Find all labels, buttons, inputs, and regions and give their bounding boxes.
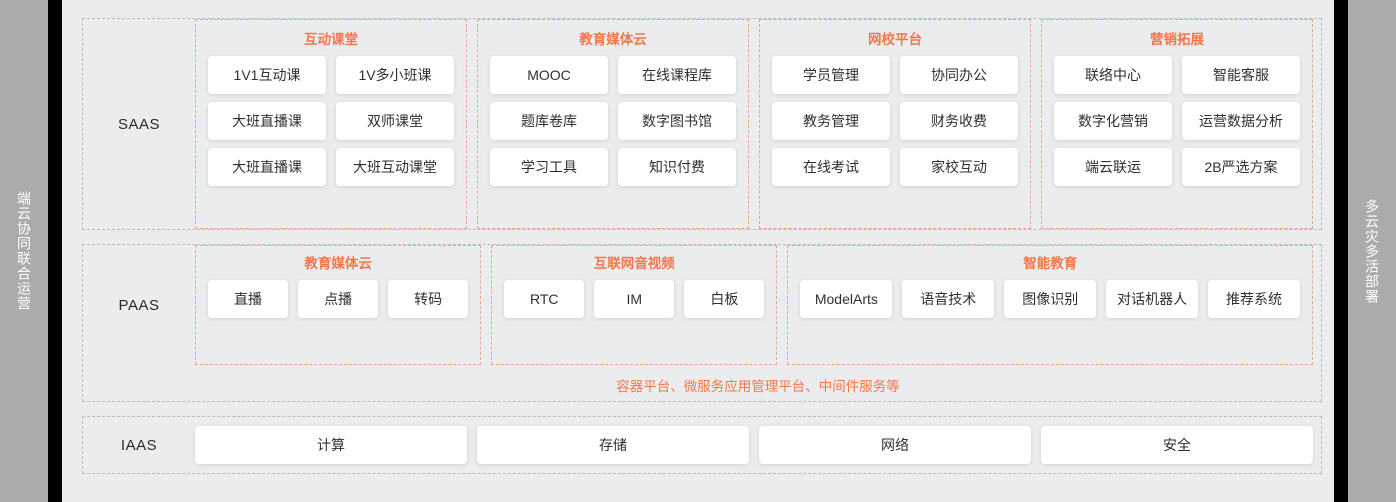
service-card[interactable]: 学习工具 (490, 148, 608, 186)
paas-row: PAAS 教育媒体云 直播 点播 转码 互联网音视频 RTC (83, 245, 1321, 365)
service-card[interactable]: MOOC (490, 56, 608, 94)
service-card[interactable]: 在线课程库 (618, 56, 736, 94)
service-card[interactable]: 学员管理 (772, 56, 890, 94)
service-card[interactable]: 在线考试 (772, 148, 890, 186)
group-title: 智能教育 (1023, 252, 1077, 272)
left-rail: 端云协同联合运营 (0, 0, 48, 502)
group-title: 教育媒体云 (304, 252, 372, 272)
service-card[interactable]: 大班直播课 (208, 148, 326, 186)
group-paas-0: 教育媒体云 直播 点播 转码 (195, 245, 481, 365)
group-title: 教育媒体云 (579, 28, 647, 48)
service-card[interactable]: 网络 (759, 426, 1031, 464)
group-saas-2: 网校平台 学员管理 协同办公 教务管理 财务收费 在线考试 家校互动 (759, 19, 1031, 229)
service-card[interactable]: 1V1互动课 (208, 56, 326, 94)
service-card[interactable]: 语音技术 (902, 280, 994, 318)
service-card[interactable]: 财务收费 (900, 102, 1018, 140)
service-card[interactable]: 协同办公 (900, 56, 1018, 94)
group-title: 网校平台 (868, 28, 922, 48)
right-rail-label: 多云灾多活部署 (1360, 199, 1384, 304)
group-cards: MOOC 在线课程库 题库卷库 数字图书馆 学习工具 知识付费 (490, 56, 736, 186)
service-card[interactable]: 知识付费 (618, 148, 736, 186)
service-card[interactable]: IM (594, 280, 674, 318)
service-card[interactable]: 直播 (208, 280, 288, 318)
service-card[interactable]: 图像识别 (1004, 280, 1096, 318)
paas-footnote: 容器平台、微服务应用管理平台、中间件服务等 (83, 365, 1321, 401)
service-card[interactable]: 大班互动课堂 (336, 148, 454, 186)
service-card[interactable]: 联络中心 (1054, 56, 1172, 94)
group-cards: 直播 点播 转码 (208, 280, 468, 318)
layer-label-saas: SAAS (83, 116, 195, 133)
layer-saas: SAAS 互动课堂 1V1互动课 1V多小班课 大班直播课 双师课堂 大班直播课… (82, 18, 1322, 230)
group-cards: 联络中心 智能客服 数字化营销 运营数据分析 端云联运 2B严选方案 (1054, 56, 1300, 186)
service-card[interactable]: 数字化营销 (1054, 102, 1172, 140)
iaas-cards: 计算 存储 网络 安全 (195, 426, 1321, 464)
service-card[interactable]: 1V多小班课 (336, 56, 454, 94)
service-card[interactable]: 存储 (477, 426, 749, 464)
group-cards: RTC IM 白板 (504, 280, 764, 318)
service-card[interactable]: 端云联运 (1054, 148, 1172, 186)
layer-label-paas: PAAS (83, 297, 195, 314)
group-title: 互联网音视频 (594, 252, 675, 272)
left-rail-label: 端云协同联合运营 (12, 191, 36, 311)
left-rail-divider (48, 0, 62, 502)
service-card[interactable]: 教务管理 (772, 102, 890, 140)
service-card[interactable]: 数字图书馆 (618, 102, 736, 140)
right-rail-divider (1334, 0, 1348, 502)
service-card[interactable]: 转码 (388, 280, 468, 318)
service-card[interactable]: 双师课堂 (336, 102, 454, 140)
service-card[interactable]: 安全 (1041, 426, 1313, 464)
service-card[interactable]: 家校互动 (900, 148, 1018, 186)
paas-groups: 教育媒体云 直播 点播 转码 互联网音视频 RTC IM 白板 (195, 245, 1321, 365)
saas-groups: 互动课堂 1V1互动课 1V多小班课 大班直播课 双师课堂 大班直播课 大班互动… (195, 19, 1321, 229)
service-card[interactable]: 运营数据分析 (1182, 102, 1300, 140)
layer-paas: PAAS 教育媒体云 直播 点播 转码 互联网音视频 RTC (82, 244, 1322, 402)
service-card[interactable]: ModelArts (800, 280, 892, 318)
group-saas-1: 教育媒体云 MOOC 在线课程库 题库卷库 数字图书馆 学习工具 知识付费 (477, 19, 749, 229)
group-title: 互动课堂 (304, 28, 358, 48)
group-cards: ModelArts 语音技术 图像识别 对话机器人 推荐系统 (800, 280, 1300, 318)
group-cards: 1V1互动课 1V多小班课 大班直播课 双师课堂 大班直播课 大班互动课堂 (208, 56, 454, 186)
service-card[interactable]: 计算 (195, 426, 467, 464)
group-saas-0: 互动课堂 1V1互动课 1V多小班课 大班直播课 双师课堂 大班直播课 大班互动… (195, 19, 467, 229)
group-title: 营销拓展 (1150, 28, 1204, 48)
service-card[interactable]: 点播 (298, 280, 378, 318)
service-card[interactable]: 白板 (684, 280, 764, 318)
service-card[interactable]: 智能客服 (1182, 56, 1300, 94)
architecture-diagram: 端云协同联合运营 SAAS 互动课堂 1V1互动课 1V多小班课 大班直播课 双… (0, 0, 1396, 502)
service-card[interactable]: 推荐系统 (1208, 280, 1300, 318)
service-card[interactable]: 2B严选方案 (1182, 148, 1300, 186)
layer-stack: SAAS 互动课堂 1V1互动课 1V多小班课 大班直播课 双师课堂 大班直播课… (62, 0, 1334, 502)
service-card[interactable]: RTC (504, 280, 584, 318)
layer-iaas: IAAS 计算 存储 网络 安全 (82, 416, 1322, 474)
group-saas-3: 营销拓展 联络中心 智能客服 数字化营销 运营数据分析 端云联运 2B严选方案 (1041, 19, 1313, 229)
service-card[interactable]: 题库卷库 (490, 102, 608, 140)
service-card[interactable]: 对话机器人 (1106, 280, 1198, 318)
group-paas-2: 智能教育 ModelArts 语音技术 图像识别 对话机器人 推荐系统 (787, 245, 1313, 365)
service-card[interactable]: 大班直播课 (208, 102, 326, 140)
right-rail: 多云灾多活部署 (1348, 0, 1396, 502)
group-cards: 学员管理 协同办公 教务管理 财务收费 在线考试 家校互动 (772, 56, 1018, 186)
layer-label-iaas: IAAS (83, 437, 195, 454)
group-paas-1: 互联网音视频 RTC IM 白板 (491, 245, 777, 365)
